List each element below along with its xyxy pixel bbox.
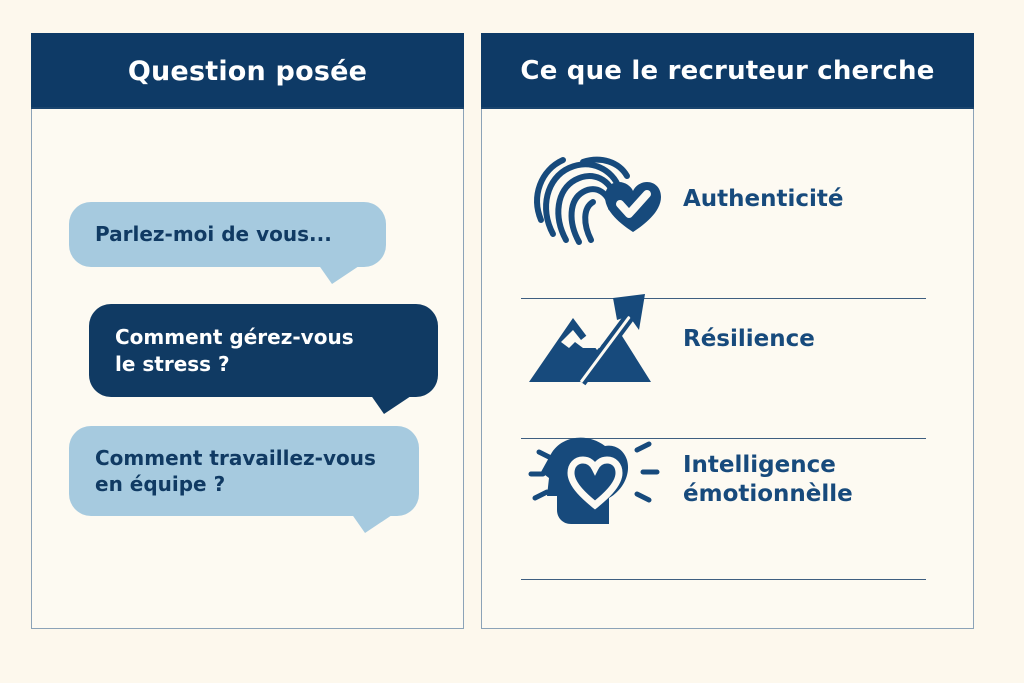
question-bubble-2-text: Comment gérez-vous le stress ? bbox=[115, 324, 354, 377]
trait-label: Authenticité bbox=[683, 185, 844, 214]
question-panel-title: Question posée bbox=[128, 56, 367, 87]
trait-row: Résilience bbox=[521, 281, 926, 399]
question-panel: Question posée Parlez-moi de vous... Com… bbox=[31, 33, 464, 629]
speech-bubble-tail-icon bbox=[318, 264, 362, 284]
recruiter-panel-title: Ce que le recruteur cherche bbox=[520, 56, 934, 86]
recruiter-panel: Ce que le recruteur cherche bbox=[481, 33, 974, 629]
question-bubble-3-text: Comment travaillez-vous en équipe ? bbox=[95, 445, 376, 498]
fingerprint-heart-check-icon bbox=[521, 145, 671, 255]
speech-bubble-tail-icon bbox=[370, 394, 414, 414]
question-panel-body: Parlez-moi de vous... Comment gérez-vous… bbox=[32, 109, 463, 628]
trait-row: Intelligence émotionnèlle bbox=[521, 421, 926, 539]
trait-label: Résilience bbox=[683, 325, 815, 354]
question-bubble-3: Comment travaillez-vous en équipe ? bbox=[69, 426, 419, 516]
question-bubble-1-text: Parlez-moi de vous... bbox=[95, 221, 332, 247]
speech-bubble-tail-icon bbox=[351, 513, 395, 533]
head-heart-idea-icon bbox=[521, 425, 671, 535]
infographic-canvas: Question posée Parlez-moi de vous... Com… bbox=[0, 0, 1024, 683]
recruiter-panel-body: Authenticité Résilience bbox=[482, 109, 973, 628]
trait-row: Authenticité bbox=[521, 141, 926, 259]
question-bubble-1: Parlez-moi de vous... bbox=[69, 202, 386, 267]
question-bubble-2: Comment gérez-vous le stress ? bbox=[89, 304, 438, 397]
trait-label: Intelligence émotionnèlle bbox=[683, 451, 853, 510]
mountain-rising-arrow-icon bbox=[521, 285, 671, 395]
trait-divider bbox=[521, 579, 926, 580]
recruiter-panel-header: Ce que le recruteur cherche bbox=[481, 33, 974, 109]
question-panel-header: Question posée bbox=[31, 33, 464, 109]
